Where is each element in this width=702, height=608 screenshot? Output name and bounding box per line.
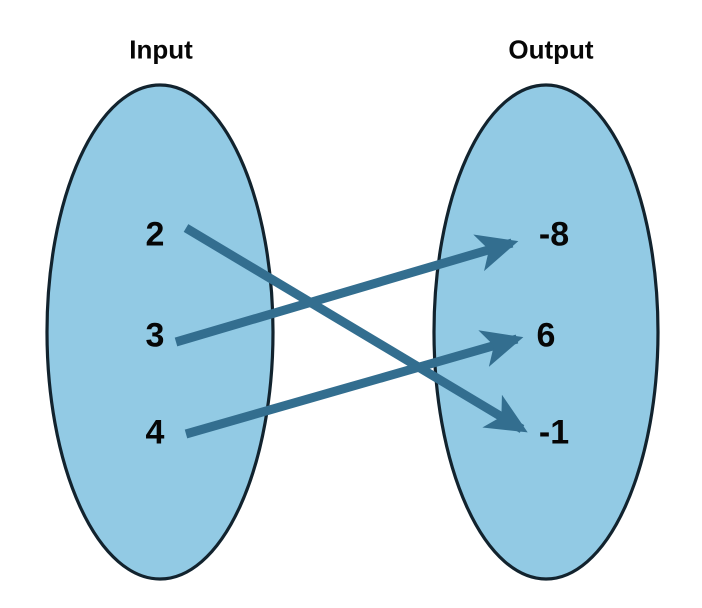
input-set-title: Input bbox=[129, 35, 193, 66]
diagram-svg bbox=[0, 0, 702, 608]
input-value-1: 2 bbox=[146, 216, 165, 255]
output-value-1: -8 bbox=[539, 216, 569, 255]
output-value-3: -1 bbox=[539, 414, 569, 453]
mapping-diagram-canvas: Input Output 2 3 4 -8 6 -1 bbox=[0, 0, 702, 608]
input-value-3: 4 bbox=[146, 414, 165, 453]
output-set-title: Output bbox=[508, 35, 593, 66]
output-value-2: 6 bbox=[537, 317, 556, 356]
input-value-2: 3 bbox=[146, 317, 165, 356]
